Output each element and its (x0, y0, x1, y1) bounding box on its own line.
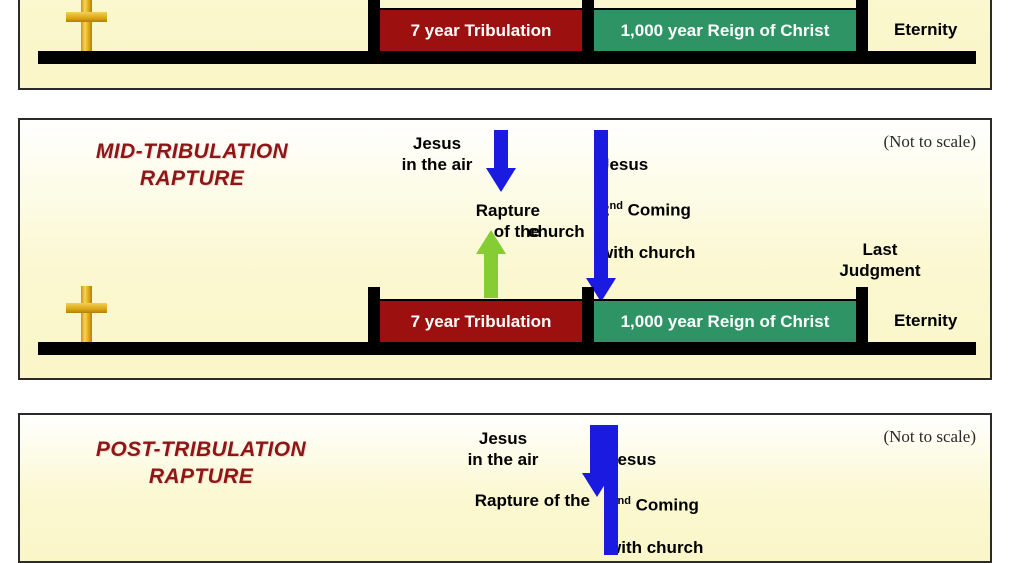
cross-icon (66, 0, 107, 57)
arrow-shaft (494, 130, 508, 168)
timeline-tick-second-coming (582, 0, 594, 52)
cross-horizontal-bar (66, 303, 107, 313)
arrow-head (476, 230, 506, 254)
arrow-head (486, 168, 516, 192)
panel-post-tribulation: POST-TRIBULATION RAPTURE (Not to scale) … (18, 413, 992, 563)
timeline-tick-second-coming (582, 287, 594, 343)
label-jesus-in-the-air: Jesus in the air (438, 428, 568, 470)
arrow-shaft (604, 425, 618, 555)
arrow-second-coming-icon (596, 425, 626, 555)
arrow-shaft (594, 130, 608, 278)
arrow-jesus-descends-icon (486, 130, 516, 192)
arrow-rapture-ascends-icon (476, 230, 506, 298)
segment-eternity: Eternity (894, 20, 957, 40)
panel-mid-tribulation: MID-TRIBULATION RAPTURE (Not to scale) J… (18, 118, 992, 380)
segment-reign-of-christ: 1,000 year Reign of Christ (594, 8, 856, 51)
panel-pre-tribulation: PRE-TRIBULATION RAPTURE (Not to scale) 7… (18, 0, 992, 90)
segment-tribulation: 7 year Tribulation (380, 8, 582, 51)
timeline-tick-last-judgment (856, 0, 868, 52)
timeline-baseline (38, 51, 976, 64)
panel-mid-not-to-scale-note: (Not to scale) (883, 132, 976, 152)
cross-vertical-bar (81, 286, 92, 348)
panel-post-not-to-scale-note: (Not to scale) (883, 427, 976, 447)
label-second-coming-ordinal-post: Coming (623, 201, 691, 220)
label-jesus-second-coming: Jesus 2nd Coming with church (608, 428, 764, 558)
label-rapture-of-the: Rapture of the (420, 490, 590, 511)
label-rapture-line1: Rapture (430, 200, 540, 221)
timeline-tick-last-judgment (856, 287, 868, 343)
arrow-second-coming-icon (586, 130, 616, 302)
rapture-views-diagram: PRE-TRIBULATION RAPTURE (Not to scale) 7… (0, 0, 1012, 500)
cross-vertical-bar (81, 0, 92, 57)
segment-eternity: Eternity (894, 311, 957, 331)
label-last-judgment: Last Judgment (800, 239, 960, 281)
timeline-tick-tribulation-start (368, 0, 380, 52)
segment-tribulation: 7 year Tribulation (380, 299, 582, 342)
cross-horizontal-bar (66, 12, 107, 22)
segment-reign-of-christ: 1,000 year Reign of Christ (594, 299, 856, 342)
arrow-shaft (484, 252, 498, 298)
label-second-coming-ordinal-post: Coming (631, 496, 699, 515)
cross-icon (66, 286, 107, 348)
timeline-baseline (38, 342, 976, 355)
panel-post-title: POST-TRIBULATION RAPTURE (46, 436, 356, 490)
timeline-tick-tribulation-start (368, 287, 380, 343)
panel-mid-title: MID-TRIBULATION RAPTURE (46, 138, 338, 192)
label-jesus-in-the-air: Jesus in the air (372, 133, 502, 175)
label-jesus-second-coming: Jesus 2nd Coming with church (600, 133, 756, 263)
